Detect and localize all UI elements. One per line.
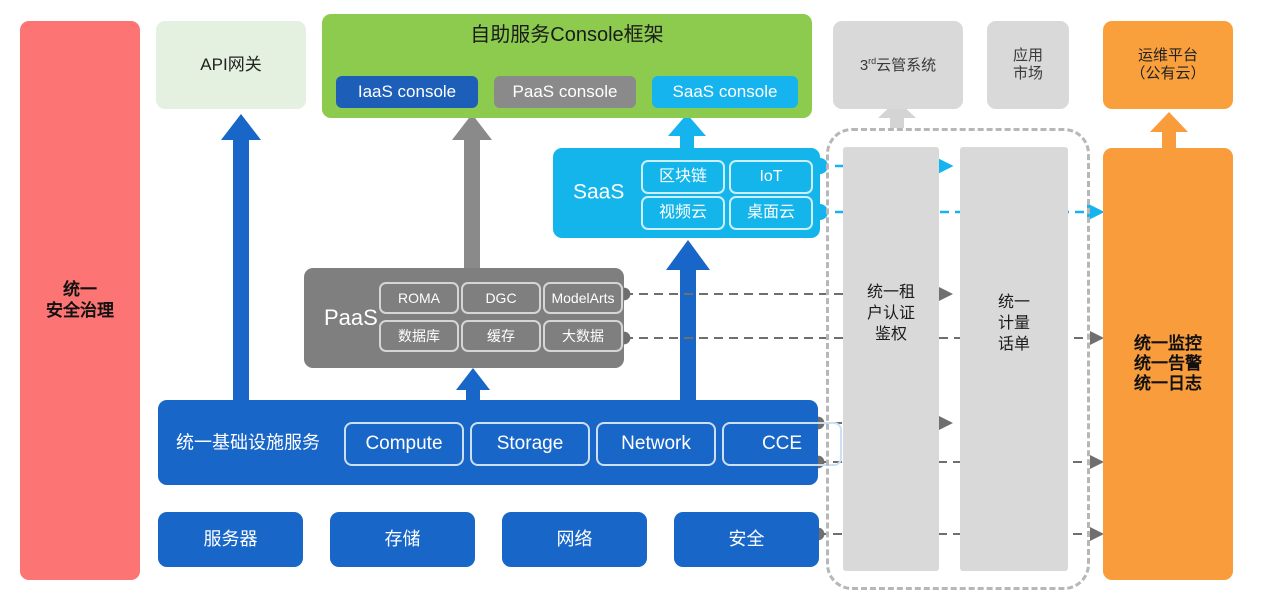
shared-service-metering-label: 统一 计量 话单 <box>960 293 1068 355</box>
console-chip-saas[interactable]: SaaS console <box>652 76 798 108</box>
paas-chip-modelarts[interactable]: ModelArts <box>543 282 623 314</box>
arrow-saas-to-console <box>668 114 706 152</box>
unified-infrastructure-label: 统一基础设施服务 <box>176 432 320 453</box>
saas-layer-label: SaaS <box>573 181 624 206</box>
saas-chip-blockchain[interactable]: 区块链 <box>641 160 725 194</box>
resource-box-server[interactable]: 服务器 <box>158 512 303 567</box>
arrow-ops-to-ops-platform <box>1150 112 1188 148</box>
saas-layer-block: SaaS 区块链 IoT 视频云 桌面云 <box>553 148 820 238</box>
resource-box-network[interactable]: 网络 <box>502 512 647 567</box>
unified-ops-monitoring-panel[interactable]: 统一监控 统一告警 统一日志 <box>1103 148 1233 580</box>
paas-chip-database[interactable]: 数据库 <box>379 320 459 352</box>
arrow-infra-to-api-gateway <box>221 114 261 400</box>
resource-box-storage[interactable]: 存储 <box>330 512 475 567</box>
paas-layer-block: PaaS ROMA DGC ModelArts 数据库 缓存 大数据 <box>304 268 624 368</box>
shared-service-column-metering[interactable]: 统一 计量 话单 <box>960 147 1068 571</box>
ops-platform-public-cloud-box[interactable]: 运维平台 （公有云） <box>1103 21 1233 109</box>
infra-chip-network[interactable]: Network <box>596 422 716 466</box>
console-framework-panel: 自助服务Console框架 IaaS console PaaS console … <box>322 14 812 118</box>
saas-chip-iot[interactable]: IoT <box>729 160 813 194</box>
resource-box-security[interactable]: 安全 <box>674 512 819 567</box>
paas-chip-roma[interactable]: ROMA <box>379 282 459 314</box>
arrow-infra-to-paas <box>456 368 490 400</box>
console-framework-title: 自助服务Console框架 <box>322 24 812 48</box>
shared-service-column-auth[interactable]: 统一租 户认证 鉴权 <box>843 147 939 571</box>
saas-chip-desktop-cloud[interactable]: 桌面云 <box>729 196 813 230</box>
console-chip-paas[interactable]: PaaS console <box>494 76 636 108</box>
infra-chip-cce[interactable]: CCE <box>722 422 842 466</box>
paas-chip-dgc[interactable]: DGC <box>461 282 541 314</box>
third-party-cloud-management-box[interactable]: 3rd云管系统 <box>833 21 963 109</box>
architecture-diagram: 统一 安全治理 API网关 自助服务Console框架 IaaS console… <box>0 0 1265 605</box>
paas-chip-bigdata[interactable]: 大数据 <box>543 320 623 352</box>
shared-service-auth-label: 统一租 户认证 鉴权 <box>843 283 939 345</box>
app-market-box[interactable]: 应用 市场 <box>987 21 1069 109</box>
console-chip-iaas[interactable]: IaaS console <box>336 76 478 108</box>
infra-chip-storage[interactable]: Storage <box>470 422 590 466</box>
arrow-paas-to-console <box>452 114 492 272</box>
unified-infrastructure-service-bar: 统一基础设施服务 Compute Storage Network CCE <box>158 400 818 485</box>
paas-chip-cache[interactable]: 缓存 <box>461 320 541 352</box>
unified-security-governance-panel[interactable]: 统一 安全治理 <box>20 21 140 580</box>
saas-chip-video-cloud[interactable]: 视频云 <box>641 196 725 230</box>
api-gateway-box[interactable]: API网关 <box>156 21 306 109</box>
paas-layer-label: PaaS <box>324 305 378 331</box>
infra-chip-compute[interactable]: Compute <box>344 422 464 466</box>
arrow-infra-to-saas <box>666 240 710 400</box>
third-party-label: 3rd云管系统 <box>860 56 936 75</box>
